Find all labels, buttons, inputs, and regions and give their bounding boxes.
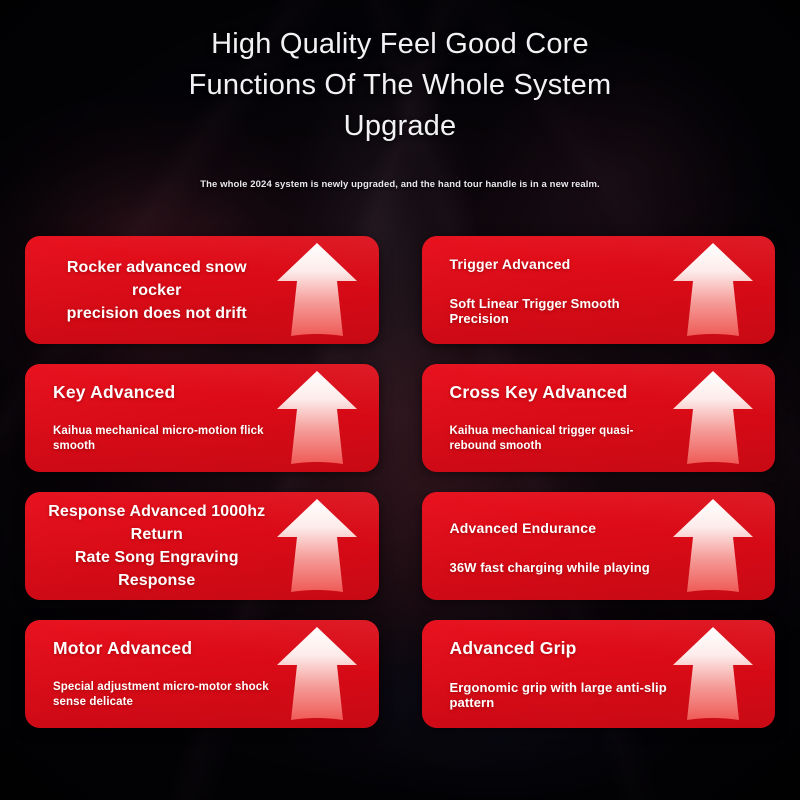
up-arrow-icon <box>269 624 365 728</box>
up-arrow-icon <box>665 368 761 472</box>
page-title-line-2: Functions Of The Whole System <box>189 69 612 101</box>
page-title-line-3: Upgrade <box>344 110 457 142</box>
card-line-1: Rocker advanced snow rocker <box>45 256 269 302</box>
card-text: Rocker advanced snow rocker precision do… <box>25 236 275 344</box>
card-line-1: Response Advanced 1000hz Return <box>45 500 269 546</box>
feature-card-grid: Rocker advanced snow rocker precision do… <box>0 236 800 728</box>
card-title: Advanced Grip <box>450 638 577 658</box>
feature-card-grip[interactable]: Advanced Grip Ergonomic grip with large … <box>422 620 776 728</box>
feature-card-response[interactable]: Response Advanced 1000hz Return Rate Son… <box>25 492 379 600</box>
page-subtitle: The whole 2024 system is newly upgraded,… <box>90 179 710 190</box>
up-arrow-icon <box>665 624 761 728</box>
card-description: Kaihua mechanical trigger quasi-rebound … <box>450 424 670 454</box>
card-line-2: precision does not drift <box>67 302 247 325</box>
feature-card-endurance[interactable]: Advanced Endurance 36W fast charging whi… <box>422 492 776 600</box>
page-header: High Quality Feel Good Core Functions Of… <box>0 0 800 190</box>
card-text: Cross Key Advanced Kaihua mechanical tri… <box>422 364 672 472</box>
card-text: Response Advanced 1000hz Return Rate Son… <box>25 492 275 600</box>
card-description: Special adjustment micro-motor shock sen… <box>53 680 273 710</box>
page-title: High Quality Feel Good Core Functions Of… <box>165 24 635 147</box>
up-arrow-icon <box>269 368 365 472</box>
promo-page: High Quality Feel Good Core Functions Of… <box>0 0 800 800</box>
card-text: Advanced Endurance 36W fast charging whi… <box>422 492 672 600</box>
card-description: Ergonomic grip with large anti-slip patt… <box>450 680 670 710</box>
card-description: Kaihua mechanical micro-motion flick smo… <box>53 424 273 454</box>
feature-card-rocker[interactable]: Rocker advanced snow rocker precision do… <box>25 236 379 344</box>
card-description: 36W fast charging while playing <box>450 560 650 575</box>
up-arrow-icon <box>665 496 761 600</box>
card-text: Advanced Grip Ergonomic grip with large … <box>422 620 672 728</box>
card-description: Soft Linear Trigger Smooth Precision <box>450 296 670 326</box>
up-arrow-icon <box>665 240 761 344</box>
card-line-2: Rate Song Engraving Response <box>45 546 269 592</box>
up-arrow-icon <box>269 496 365 600</box>
card-title: Key Advanced <box>53 382 175 402</box>
feature-card-trigger[interactable]: Trigger Advanced Soft Linear Trigger Smo… <box>422 236 776 344</box>
card-title: Cross Key Advanced <box>450 382 628 402</box>
card-title: Advanced Endurance <box>450 518 597 538</box>
card-title: Trigger Advanced <box>450 254 571 274</box>
card-text: Key Advanced Kaihua mechanical micro-mot… <box>25 364 275 472</box>
card-title: Motor Advanced <box>53 638 192 658</box>
feature-card-cross-key[interactable]: Cross Key Advanced Kaihua mechanical tri… <box>422 364 776 472</box>
card-text: Trigger Advanced Soft Linear Trigger Smo… <box>422 236 672 344</box>
card-text: Motor Advanced Special adjustment micro-… <box>25 620 275 728</box>
feature-card-motor[interactable]: Motor Advanced Special adjustment micro-… <box>25 620 379 728</box>
page-title-line-1: High Quality Feel Good Core <box>211 28 589 60</box>
up-arrow-icon <box>269 240 365 344</box>
feature-card-key[interactable]: Key Advanced Kaihua mechanical micro-mot… <box>25 364 379 472</box>
